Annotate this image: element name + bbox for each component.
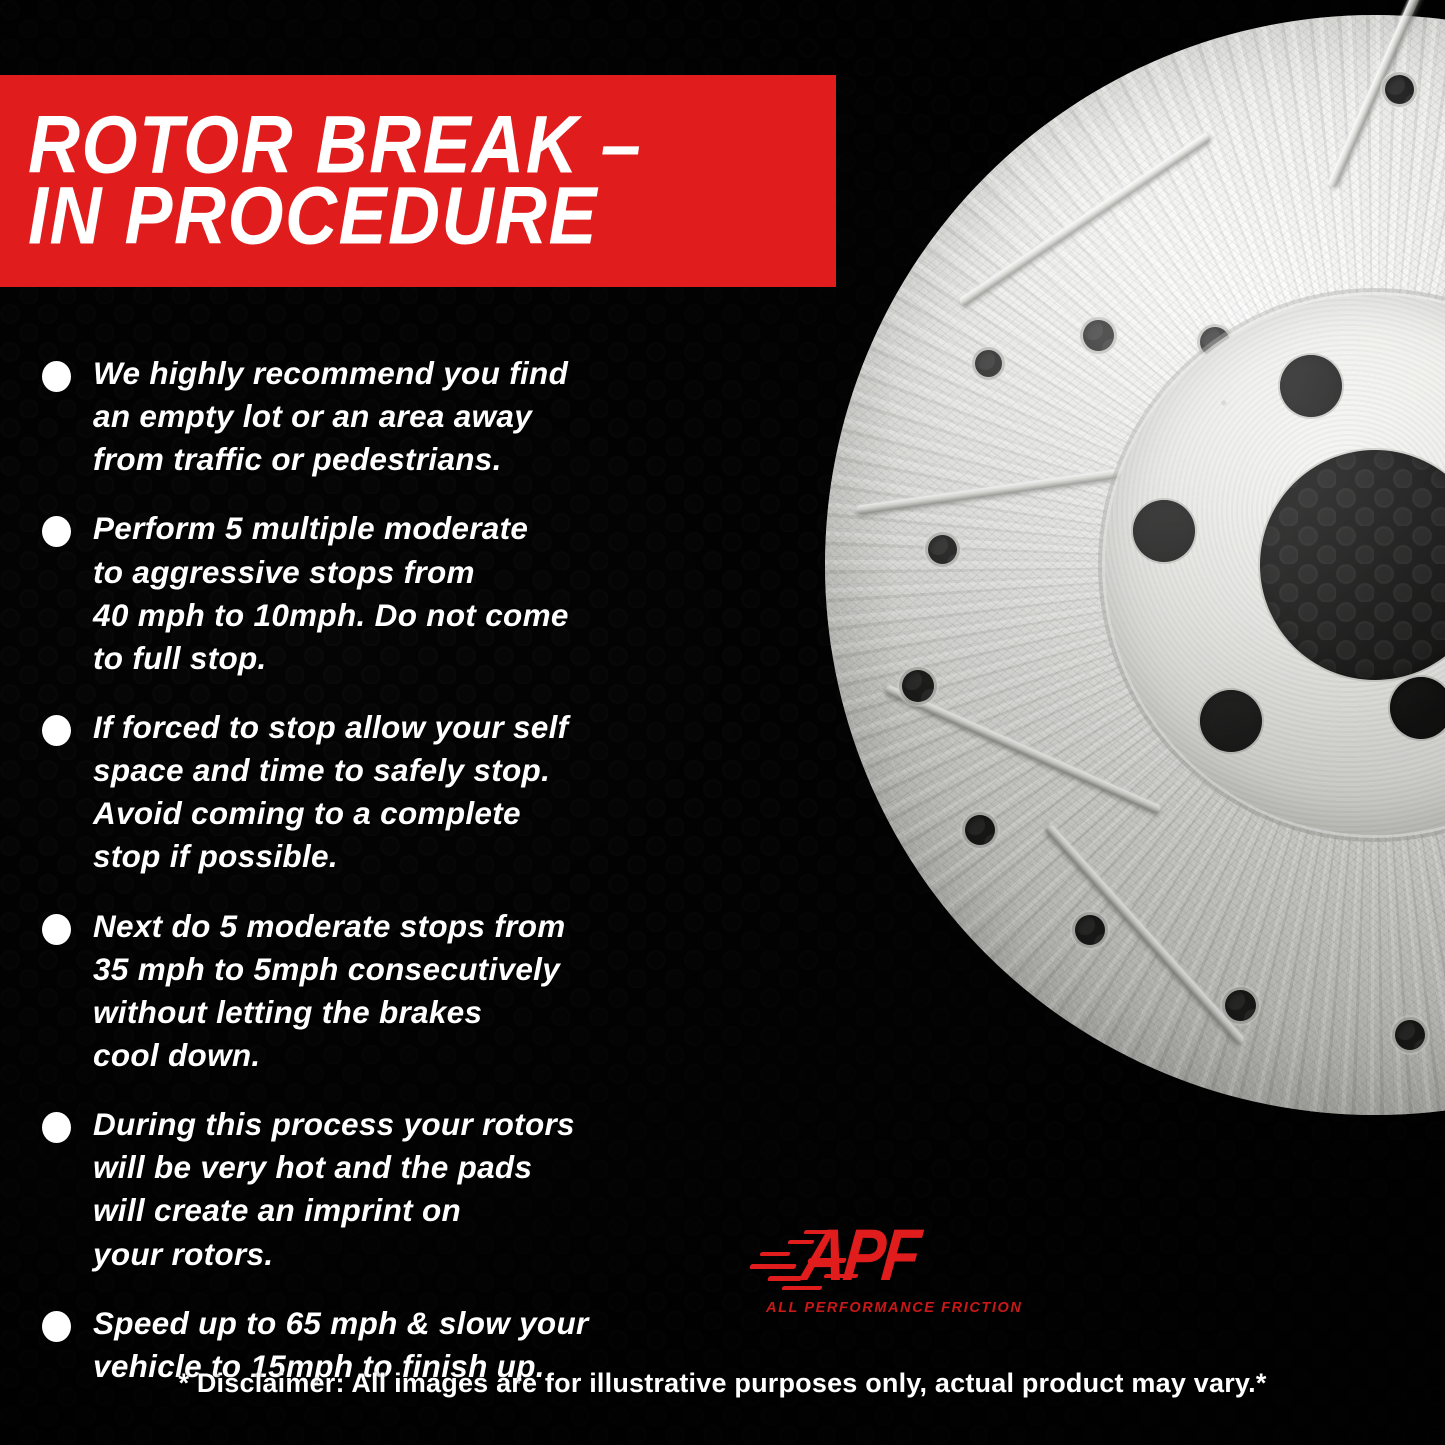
- apf-logo-mark: APF: [748, 1218, 998, 1296]
- list-item: During this process your rotors will be …: [42, 1103, 762, 1276]
- speed-streak: [749, 1264, 797, 1269]
- bullet-dot-icon: [42, 361, 71, 392]
- list-item: If forced to stop allow your self space …: [42, 706, 762, 879]
- title-banner: ROTOR BREAK – IN PROCEDURE: [0, 75, 836, 287]
- apf-tagline: ALL PERFORMANCE FRICTION: [766, 1300, 986, 1316]
- bullet-dot-icon: [42, 914, 71, 945]
- list-item: We highly recommend you find an empty lo…: [42, 352, 762, 481]
- bullet-dot-icon: [42, 1112, 71, 1143]
- list-item-text: Next do 5 moderate stops from 35 mph to …: [93, 905, 566, 1078]
- poster-canvas: ROTOR BREAK – IN PROCEDURE We highly rec…: [0, 0, 1445, 1445]
- list-item-text: If forced to stop allow your self space …: [93, 706, 568, 879]
- apf-wordmark: APF: [798, 1220, 921, 1293]
- list-item: Perform 5 multiple moderate to aggressiv…: [42, 507, 762, 680]
- bullet-dot-icon: [42, 516, 71, 547]
- list-item-text: Perform 5 multiple moderate to aggressiv…: [93, 507, 569, 680]
- title-line-2: IN PROCEDURE: [28, 176, 836, 257]
- bullet-dot-icon: [42, 1311, 71, 1342]
- list-item: Next do 5 moderate stops from 35 mph to …: [42, 905, 762, 1078]
- list-item-text: During this process your rotors will be …: [93, 1103, 575, 1276]
- speed-streak: [767, 1276, 803, 1281]
- procedure-steps-list: We highly recommend you find an empty lo…: [42, 352, 762, 1414]
- disclaimer-text: * Disclaimer: All images are for illustr…: [0, 1368, 1445, 1399]
- bullet-dot-icon: [42, 715, 71, 746]
- apf-logo: APF ALL PERFORMANCE FRICTION: [748, 1218, 998, 1330]
- list-item-text: We highly recommend you find an empty lo…: [93, 352, 568, 481]
- speed-streak: [759, 1252, 791, 1256]
